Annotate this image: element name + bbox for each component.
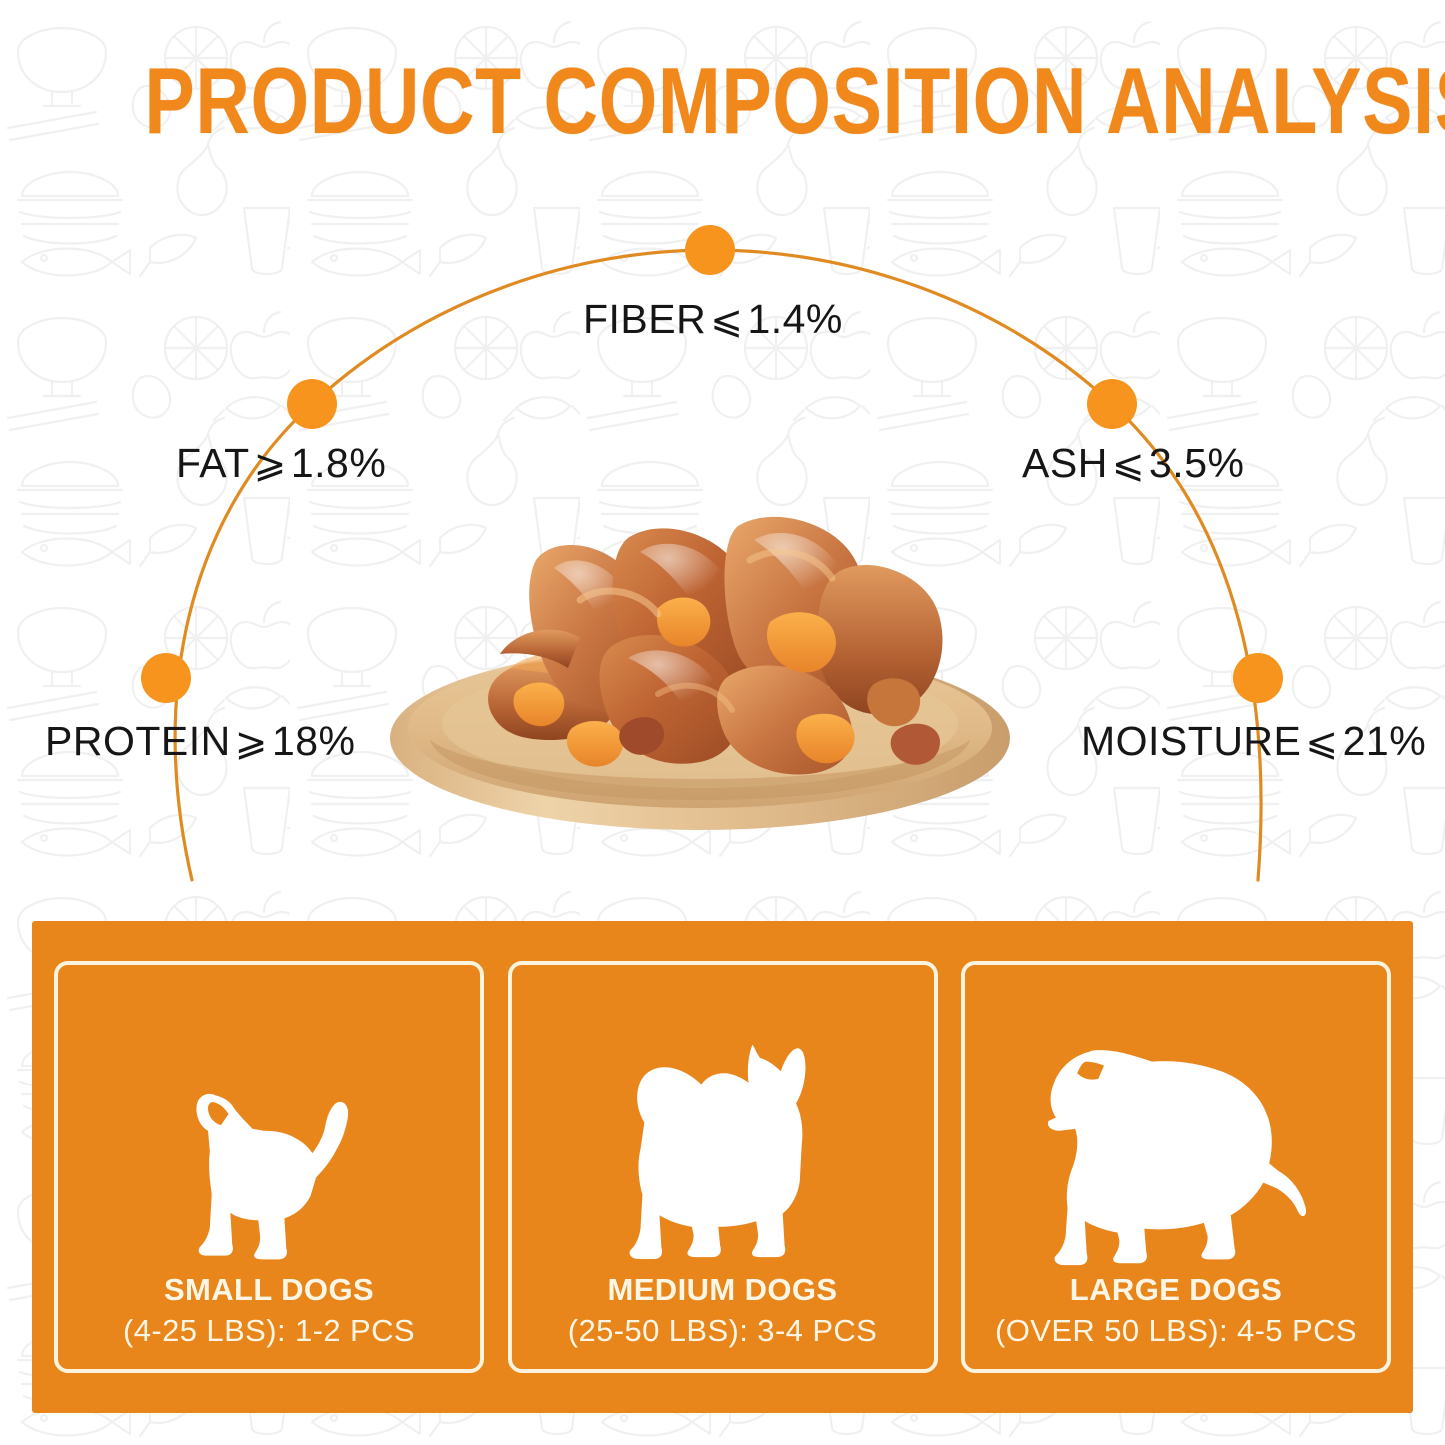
feeding-card-text-large: LARGE DOGS (OVER 50 LBS): 4-5 PCS bbox=[995, 1270, 1357, 1351]
nutrient-name-ash: ASH bbox=[1022, 440, 1108, 486]
feeding-guide-panel: SMALL DOGS (4-25 LBS): 1-2 PCS MEDIUM DO… bbox=[32, 921, 1413, 1413]
nutrient-symbol-fiber: ⩽ bbox=[706, 299, 747, 342]
product-photo bbox=[340, 410, 1060, 850]
nutrient-label-fat: FAT⩾1.8% bbox=[176, 440, 386, 487]
small-dog-icon bbox=[58, 979, 480, 1269]
nutrient-value-ash: 3.5% bbox=[1149, 440, 1244, 486]
nutrient-name-protein: PROTEIN bbox=[45, 718, 231, 764]
nutrient-symbol-protein: ⩾ bbox=[231, 721, 272, 764]
nutrient-symbol-moisture: ⩽ bbox=[1301, 721, 1342, 764]
nutrient-symbol-ash: ⩽ bbox=[1108, 443, 1149, 486]
feeding-card-medium-dogs: MEDIUM DOGS (25-50 LBS): 3-4 PCS bbox=[508, 961, 938, 1373]
large-dog-icon bbox=[965, 979, 1387, 1269]
nutrient-label-moisture: MOISTURE⩽21% bbox=[1081, 718, 1426, 765]
feeding-card-detail-large: (OVER 50 LBS): 4-5 PCS bbox=[995, 1311, 1357, 1351]
nutrient-label-ash: ASH⩽3.5% bbox=[1022, 440, 1244, 487]
feeding-card-detail-small: (4-25 LBS): 1-2 PCS bbox=[123, 1311, 415, 1351]
nutrient-value-fiber: 1.4% bbox=[747, 296, 842, 342]
medium-dog-icon bbox=[512, 979, 934, 1269]
feeding-card-title-small: SMALL DOGS bbox=[123, 1270, 415, 1310]
feeding-card-text-medium: MEDIUM DOGS (25-50 LBS): 3-4 PCS bbox=[568, 1270, 878, 1351]
nutrient-name-moisture: MOISTURE bbox=[1081, 718, 1301, 764]
nutrient-name-fat: FAT bbox=[176, 440, 250, 486]
nutrient-label-protein: PROTEIN⩾18% bbox=[45, 718, 356, 765]
product-composition-infographic: PRODUCT COMPOSITION ANALYSIS bbox=[0, 0, 1445, 1445]
page-title: PRODUCT COMPOSITION ANALYSIS bbox=[145, 52, 1301, 151]
nutrient-symbol-fat: ⩾ bbox=[250, 443, 291, 486]
feeding-card-text-small: SMALL DOGS (4-25 LBS): 1-2 PCS bbox=[123, 1270, 415, 1351]
nutrient-value-moisture: 21% bbox=[1343, 718, 1427, 764]
nutrient-value-fat: 1.8% bbox=[291, 440, 386, 486]
nutrient-value-protein: 18% bbox=[272, 718, 356, 764]
feeding-card-title-large: LARGE DOGS bbox=[995, 1270, 1357, 1310]
feeding-card-title-medium: MEDIUM DOGS bbox=[568, 1270, 878, 1310]
feeding-card-large-dogs: LARGE DOGS (OVER 50 LBS): 4-5 PCS bbox=[961, 961, 1391, 1373]
feeding-card-detail-medium: (25-50 LBS): 3-4 PCS bbox=[568, 1311, 878, 1351]
nutrient-name-fiber: FIBER bbox=[583, 296, 706, 342]
feeding-card-small-dogs: SMALL DOGS (4-25 LBS): 1-2 PCS bbox=[54, 961, 484, 1373]
nutrient-label-fiber: FIBER⩽1.4% bbox=[583, 296, 843, 343]
